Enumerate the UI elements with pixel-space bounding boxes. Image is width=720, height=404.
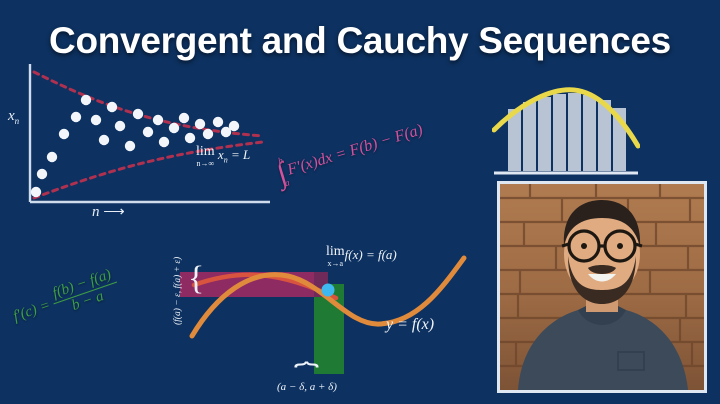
presenter-eye-right — [617, 243, 623, 249]
epsilon-brace: { — [188, 262, 204, 296]
convergent-sequence-plot — [8, 62, 278, 222]
sequence-y-axis-label: xn — [8, 108, 19, 126]
limit-continuity-expression: lim x→a f(x) = f(a) — [326, 244, 397, 268]
riemann-sum-svg — [492, 84, 640, 186]
page-title: Convergent and Cauchy Sequences — [0, 20, 720, 62]
photo-description: Smiling bearded man with glasses in a da… — [0, 0, 1, 1]
riemann-sum-diagram — [492, 84, 640, 186]
epsilon-interval-label: (f(a) − ε, f(a) + ε) — [167, 236, 189, 346]
fundamental-theorem-of-calculus: ∫baF′(x)dx = F(b) − F(a) — [273, 115, 428, 192]
delta-interval-label: (a − δ, a + δ) — [277, 381, 337, 393]
presenter-eye-left — [581, 243, 587, 249]
presenter-photo-svg — [500, 184, 704, 390]
function-curve-label: y = f(x) — [386, 316, 434, 334]
sequence-plot-svg — [8, 62, 278, 222]
envelope-upper — [34, 72, 263, 136]
presenter-photo — [497, 181, 707, 393]
mean-value-theorem: f′(c) = f(b) − f(a) b − a — [8, 266, 122, 335]
sequence-x-axis-label: n ⟶ — [92, 202, 125, 221]
limit-point — [322, 284, 335, 297]
thumbnail-canvas: Convergent and Cauchy Sequences — [0, 0, 720, 404]
sequence-limit-expression: lim n→∞ xn = L — [196, 144, 250, 168]
